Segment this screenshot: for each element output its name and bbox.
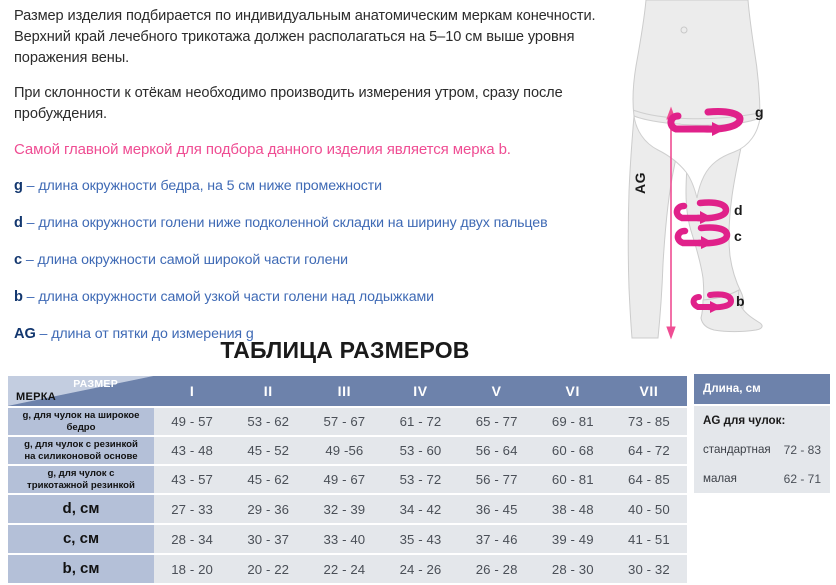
cell-value: 53 - 62 bbox=[230, 408, 306, 435]
column-header-6: VI bbox=[535, 376, 611, 406]
table-row: g, для чулок на широкое бедро 49 - 57 53… bbox=[8, 408, 687, 435]
legend-text-c: длина окружности самой широкой части гол… bbox=[38, 252, 348, 268]
cell-value: 69 - 81 bbox=[535, 408, 611, 435]
cell-value: 45 - 52 bbox=[230, 437, 306, 464]
cell-value: 73 - 85 bbox=[611, 408, 687, 435]
length-panel: Длина, см AG для чулок: стандартная 72 -… bbox=[694, 374, 830, 493]
length-row-name: стандартная bbox=[703, 443, 784, 456]
cell-value: 40 - 50 bbox=[611, 495, 687, 523]
legend-text-b: длина окружности самой узкой части голен… bbox=[38, 289, 434, 305]
row-label-line: бедро bbox=[8, 422, 154, 434]
cell-value: 56 - 77 bbox=[459, 466, 535, 493]
cell-value: 64 - 72 bbox=[611, 437, 687, 464]
table-row: b, см 18 - 20 20 - 22 22 - 24 24 - 26 26… bbox=[8, 555, 687, 583]
legend-dash-g: – bbox=[27, 178, 35, 194]
legend-dash-d: – bbox=[27, 215, 35, 231]
cell-value: 39 - 49 bbox=[535, 525, 611, 553]
cell-value: 49 - 57 bbox=[154, 408, 230, 435]
cell-value: 34 - 42 bbox=[382, 495, 458, 523]
row-label-line: b, см bbox=[8, 563, 154, 575]
length-row-standard: стандартная 72 - 83 bbox=[694, 435, 830, 464]
size-table: РАЗМЕР МЕРКА I II III IV V VI VII g, для… bbox=[8, 374, 687, 585]
cell-value: 45 - 62 bbox=[230, 466, 306, 493]
marker-label-c: c bbox=[734, 228, 742, 244]
marker-label-d: d bbox=[734, 202, 743, 218]
row-label-g-knit: g, для чулок с трикотажной резинкой bbox=[8, 466, 154, 493]
cell-value: 65 - 77 bbox=[459, 408, 535, 435]
table-row: d, см 27 - 33 29 - 36 32 - 39 34 - 42 36… bbox=[8, 495, 687, 523]
leg-measurement-illustration: g d c b AG bbox=[600, 0, 836, 360]
marker-label-g: g bbox=[755, 104, 764, 120]
length-panel-header: Длина, см bbox=[694, 374, 830, 404]
row-label-b: b, см bbox=[8, 555, 154, 583]
cell-value: 28 - 30 bbox=[535, 555, 611, 583]
row-label-g-silicone: g, для чулок с резинкой на силиконовой о… bbox=[8, 437, 154, 464]
cell-value: 43 - 57 bbox=[154, 466, 230, 493]
table-row: g, для чулок с трикотажной резинкой 43 -… bbox=[8, 466, 687, 493]
legend-key-g: g bbox=[14, 178, 23, 194]
cell-value: 36 - 45 bbox=[459, 495, 535, 523]
highlight-note: Самой главной меркой для подбора данного… bbox=[14, 139, 614, 160]
column-header-5: V bbox=[459, 376, 535, 406]
length-row-value: 62 - 71 bbox=[784, 472, 821, 486]
cell-value: 53 - 60 bbox=[382, 437, 458, 464]
cell-value: 61 - 72 bbox=[382, 408, 458, 435]
length-row-name: малая bbox=[703, 472, 784, 485]
corner-size-label: РАЗМЕР bbox=[73, 378, 118, 390]
cell-value: 53 - 72 bbox=[382, 466, 458, 493]
intro-paragraph-2: При склонности к отёкам необходимо произ… bbox=[14, 83, 614, 125]
column-header-2: II bbox=[230, 376, 306, 406]
row-label-line: d, см bbox=[8, 503, 154, 515]
size-table-header-row: РАЗМЕР МЕРКА I II III IV V VI VII bbox=[8, 376, 687, 406]
row-label-d: d, см bbox=[8, 495, 154, 523]
corner-measure-label: МЕРКА bbox=[16, 391, 56, 403]
row-label-g-wide: g, для чулок на широкое бедро bbox=[8, 408, 154, 435]
column-header-4: IV bbox=[382, 376, 458, 406]
legend-text-d: длина окружности голени ниже подколенной… bbox=[38, 215, 547, 231]
column-header-1: I bbox=[154, 376, 230, 406]
legend-item-b: b – длина окружности самой узкой части г… bbox=[14, 287, 614, 307]
length-panel-body: AG для чулок: стандартная 72 - 83 малая … bbox=[694, 406, 830, 493]
cell-value: 35 - 43 bbox=[382, 525, 458, 553]
legend-item-c: c – длина окружности самой широкой части… bbox=[14, 250, 614, 270]
cell-value: 38 - 48 bbox=[535, 495, 611, 523]
cell-value: 29 - 36 bbox=[230, 495, 306, 523]
cell-value: 22 - 24 bbox=[306, 555, 382, 583]
cell-value: 60 - 81 bbox=[535, 466, 611, 493]
intro-paragraph-1: Размер изделия подбирается по индивидуал… bbox=[14, 6, 614, 69]
marker-label-b: b bbox=[736, 293, 745, 309]
legend-dash-b: – bbox=[27, 289, 35, 305]
marker-label-ag: AG bbox=[632, 172, 648, 194]
cell-value: 27 - 33 bbox=[154, 495, 230, 523]
torso-shape bbox=[633, 0, 760, 128]
cell-value: 28 - 34 bbox=[154, 525, 230, 553]
row-label-line: g, для чулок с резинкой bbox=[8, 439, 154, 451]
cell-value: 24 - 26 bbox=[382, 555, 458, 583]
cell-value: 30 - 37 bbox=[230, 525, 306, 553]
cell-value: 32 - 39 bbox=[306, 495, 382, 523]
legend-item-g: g – длина окружности бедра, на 5 см ниже… bbox=[14, 176, 614, 196]
cell-value: 20 - 22 bbox=[230, 555, 306, 583]
row-label-c: c, см bbox=[8, 525, 154, 553]
table-row: c, см 28 - 34 30 - 37 33 - 40 35 - 43 37… bbox=[8, 525, 687, 553]
cell-value: 33 - 40 bbox=[306, 525, 382, 553]
legend-key-b: b bbox=[14, 289, 23, 305]
row-label-line: трикотажной резинкой bbox=[8, 480, 154, 492]
row-label-line: c, см bbox=[8, 533, 154, 545]
length-row-small: малая 62 - 71 bbox=[694, 464, 830, 493]
row-label-line: g, для чулок с bbox=[8, 468, 154, 480]
cell-value: 41 - 51 bbox=[611, 525, 687, 553]
legend-dash-c: – bbox=[26, 252, 34, 268]
legend-key-c: c bbox=[14, 252, 22, 268]
cell-value: 49 -56 bbox=[306, 437, 382, 464]
column-header-7: VII bbox=[611, 376, 687, 406]
intro-text-block: Размер изделия подбирается по индивидуал… bbox=[14, 6, 614, 361]
cell-value: 30 - 32 bbox=[611, 555, 687, 583]
legend-text-g: длина окружности бедра, на 5 см ниже про… bbox=[38, 178, 382, 194]
cell-value: 37 - 46 bbox=[459, 525, 535, 553]
legend-item-d: d – длина окружности голени ниже подколе… bbox=[14, 213, 614, 233]
cell-value: 60 - 68 bbox=[535, 437, 611, 464]
row-label-line: g, для чулок на широкое bbox=[8, 410, 154, 422]
table-row: g, для чулок с резинкой на силиконовой о… bbox=[8, 437, 687, 464]
row-label-line: на силиконовой основе bbox=[8, 451, 154, 463]
cell-value: 26 - 28 bbox=[459, 555, 535, 583]
page-title: ТАБЛИЦА РАЗМЕРОВ bbox=[0, 337, 690, 364]
cell-value: 56 - 64 bbox=[459, 437, 535, 464]
cell-value: 18 - 20 bbox=[154, 555, 230, 583]
column-header-3: III bbox=[306, 376, 382, 406]
legend-key-d: d bbox=[14, 215, 23, 231]
cell-value: 57 - 67 bbox=[306, 408, 382, 435]
table-corner-cell: РАЗМЕР МЕРКА bbox=[8, 376, 154, 406]
length-row-value: 72 - 83 bbox=[784, 443, 821, 457]
cell-value: 49 - 67 bbox=[306, 466, 382, 493]
intro-and-illustration-area: Размер изделия подбирается по индивидуал… bbox=[0, 0, 836, 370]
cell-value: 43 - 48 bbox=[154, 437, 230, 464]
length-panel-title-row: AG для чулок: bbox=[694, 406, 830, 435]
cell-value: 64 - 85 bbox=[611, 466, 687, 493]
